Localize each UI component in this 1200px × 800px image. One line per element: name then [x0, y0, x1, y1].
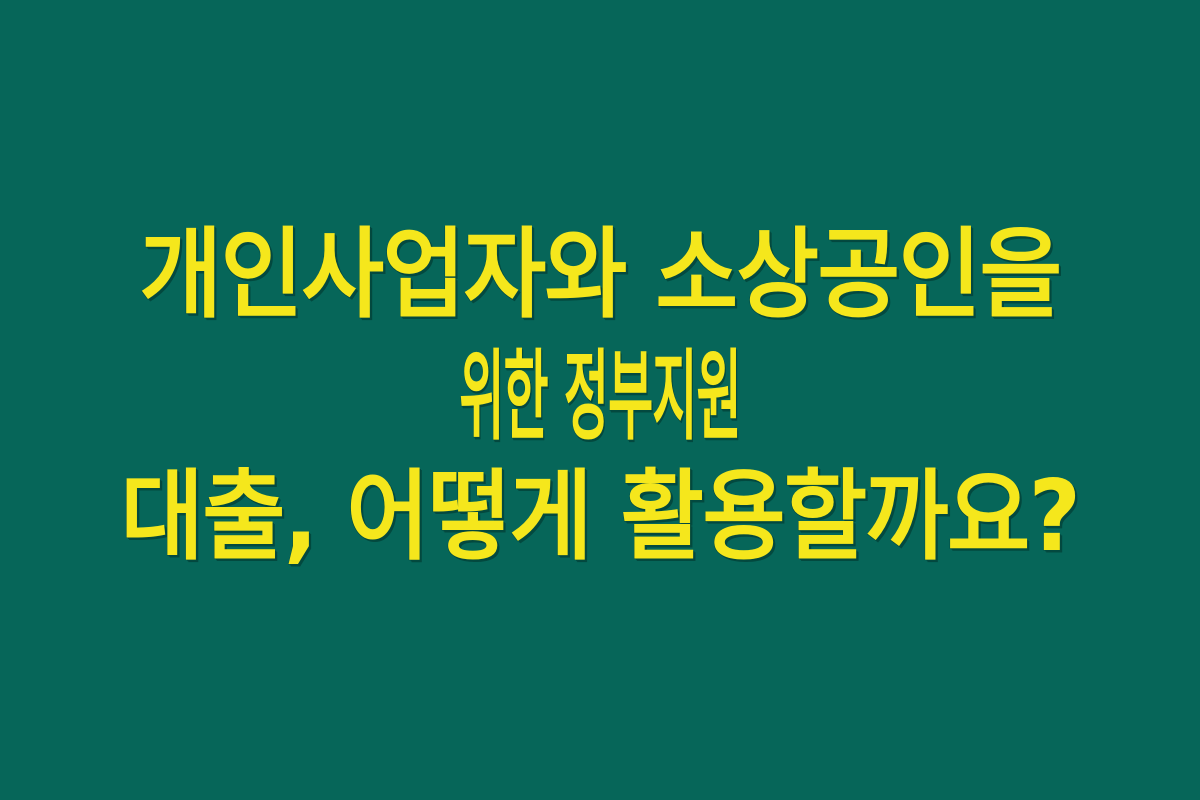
headline-line-3: 대출, 어떻게 활용할까요?	[47, 468, 1154, 566]
thumbnail-card: 개인사업자와 소상공인을 위한 정부지원 대출, 어떻게 활용할까요?	[0, 0, 1200, 800]
headline-line-2: 위한 정부지원	[300, 348, 900, 446]
headline-line-1: 개인사업자와 소상공인을	[50, 226, 1150, 324]
headline-block: 개인사업자와 소상공인을 위한 정부지원 대출, 어떻게 활용할까요?	[0, 226, 1200, 566]
